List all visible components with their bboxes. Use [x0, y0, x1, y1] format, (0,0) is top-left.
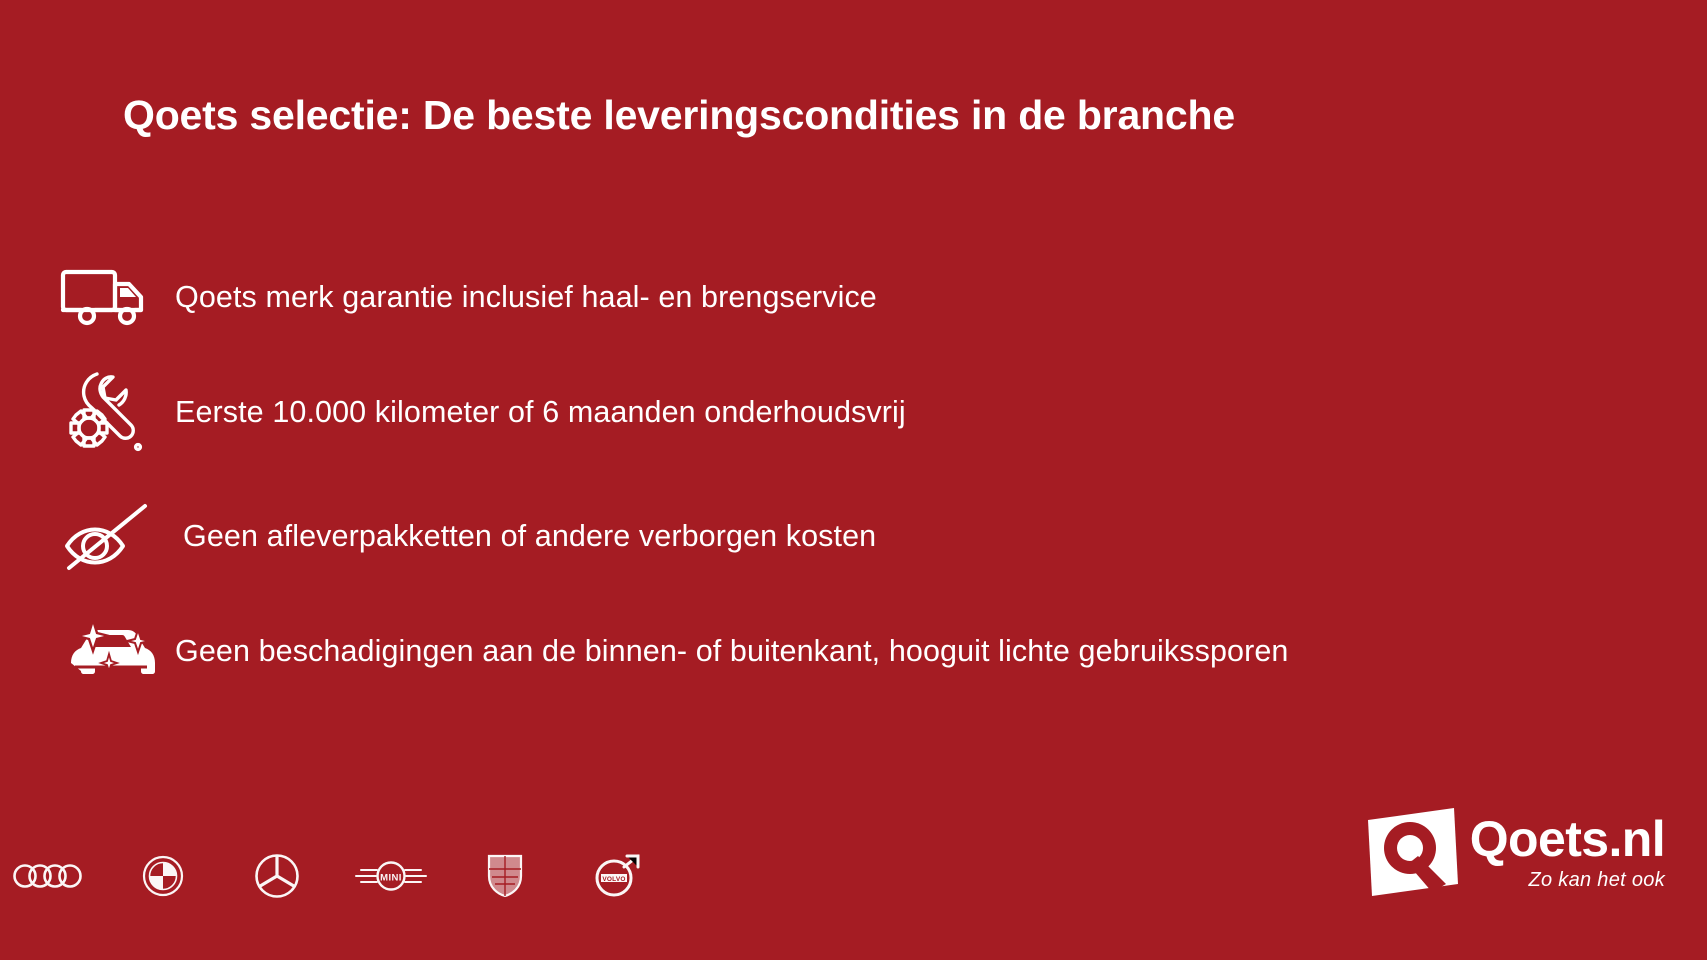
svg-text:MINI: MINI	[380, 873, 402, 884]
wrench-gear-icon	[55, 369, 165, 455]
svg-text:VOLVO: VOLVO	[602, 876, 625, 883]
mini-logo: MINI	[354, 848, 428, 904]
list-item: Geen beschadigingen aan de binnen- of bu…	[55, 608, 1655, 694]
brand-logo-strip: MINI	[12, 848, 656, 904]
list-item: Geen afleverpakketten of andere verborge…	[55, 490, 1655, 582]
feature-list: Qoets merk garantie inclusief haal- en b…	[55, 258, 1655, 694]
qoets-brand-logo: Qoets.nl Zo kan het ook	[1362, 806, 1665, 898]
delivery-truck-icon	[55, 254, 165, 340]
qoets-wordmark-group: Qoets.nl Zo kan het ook	[1470, 806, 1665, 890]
qoets-wordmark: Qoets.nl	[1470, 814, 1665, 864]
list-item-label: Qoets merk garantie inclusief haal- en b…	[175, 279, 877, 316]
qoets-tagline: Zo kan het ook	[1528, 870, 1665, 890]
audi-logo	[12, 848, 86, 904]
list-item-label: Geen afleverpakketten of andere verborge…	[183, 518, 876, 555]
list-item: Eerste 10.000 kilometer of 6 maanden ond…	[55, 366, 1655, 458]
volvo-logo: VOLVO	[582, 848, 656, 904]
eye-slash-icon	[55, 493, 165, 579]
damaged-car-icon	[55, 608, 165, 694]
page-title: Qoets selectie: De beste leveringscondit…	[123, 92, 1603, 139]
bmw-logo	[126, 848, 200, 904]
mercedes-benz-logo	[240, 848, 314, 904]
presentation-slide: Qoets selectie: De beste leveringscondit…	[0, 0, 1707, 960]
list-item-label: Eerste 10.000 kilometer of 6 maanden ond…	[175, 394, 906, 431]
qoets-q-mark-icon	[1362, 806, 1464, 898]
list-item-label: Geen beschadigingen aan de binnen- of bu…	[175, 633, 1288, 670]
list-item: Qoets merk garantie inclusief haal- en b…	[55, 258, 1655, 336]
porsche-logo	[468, 848, 542, 904]
